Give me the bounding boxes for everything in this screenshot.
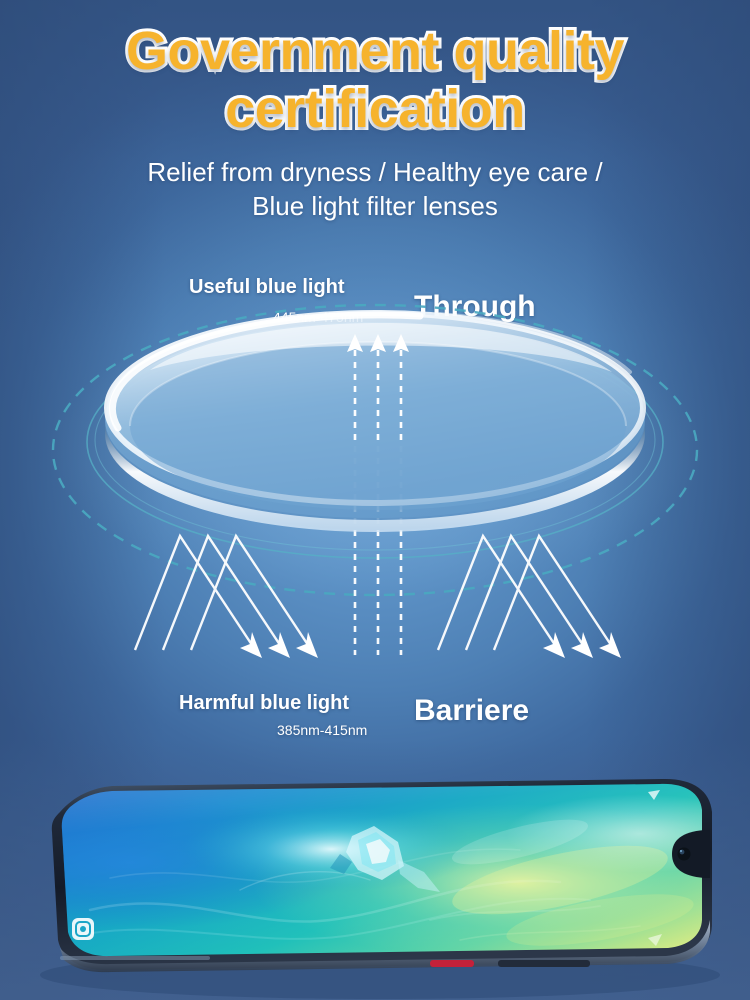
title-line-2: certification (0, 80, 750, 138)
subtitle-line-2: Blue light filter lenses (0, 189, 750, 223)
front-camera-icon (678, 848, 691, 861)
title-line-1: Government quality (0, 22, 750, 80)
power-button (430, 960, 474, 967)
bottom-rail-highlight (60, 956, 210, 960)
page-title: Government quality certification (0, 0, 750, 139)
volume-button (498, 960, 590, 967)
promo-page: Government quality certification Relief … (0, 0, 750, 1000)
harmful-rays-left-arrowheads (240, 632, 318, 658)
lens-diagram (0, 250, 750, 770)
page-subtitle: Relief from dryness / Healthy eye care /… (0, 155, 750, 224)
harmful-rays-right-arrowheads (543, 632, 621, 658)
header: Government quality certification Relief … (0, 0, 750, 223)
phone-screen (50, 775, 720, 970)
subtitle-line-1: Relief from dryness / Healthy eye care / (0, 155, 750, 189)
screen-app-icon (72, 918, 94, 940)
smartphone (0, 770, 750, 1000)
